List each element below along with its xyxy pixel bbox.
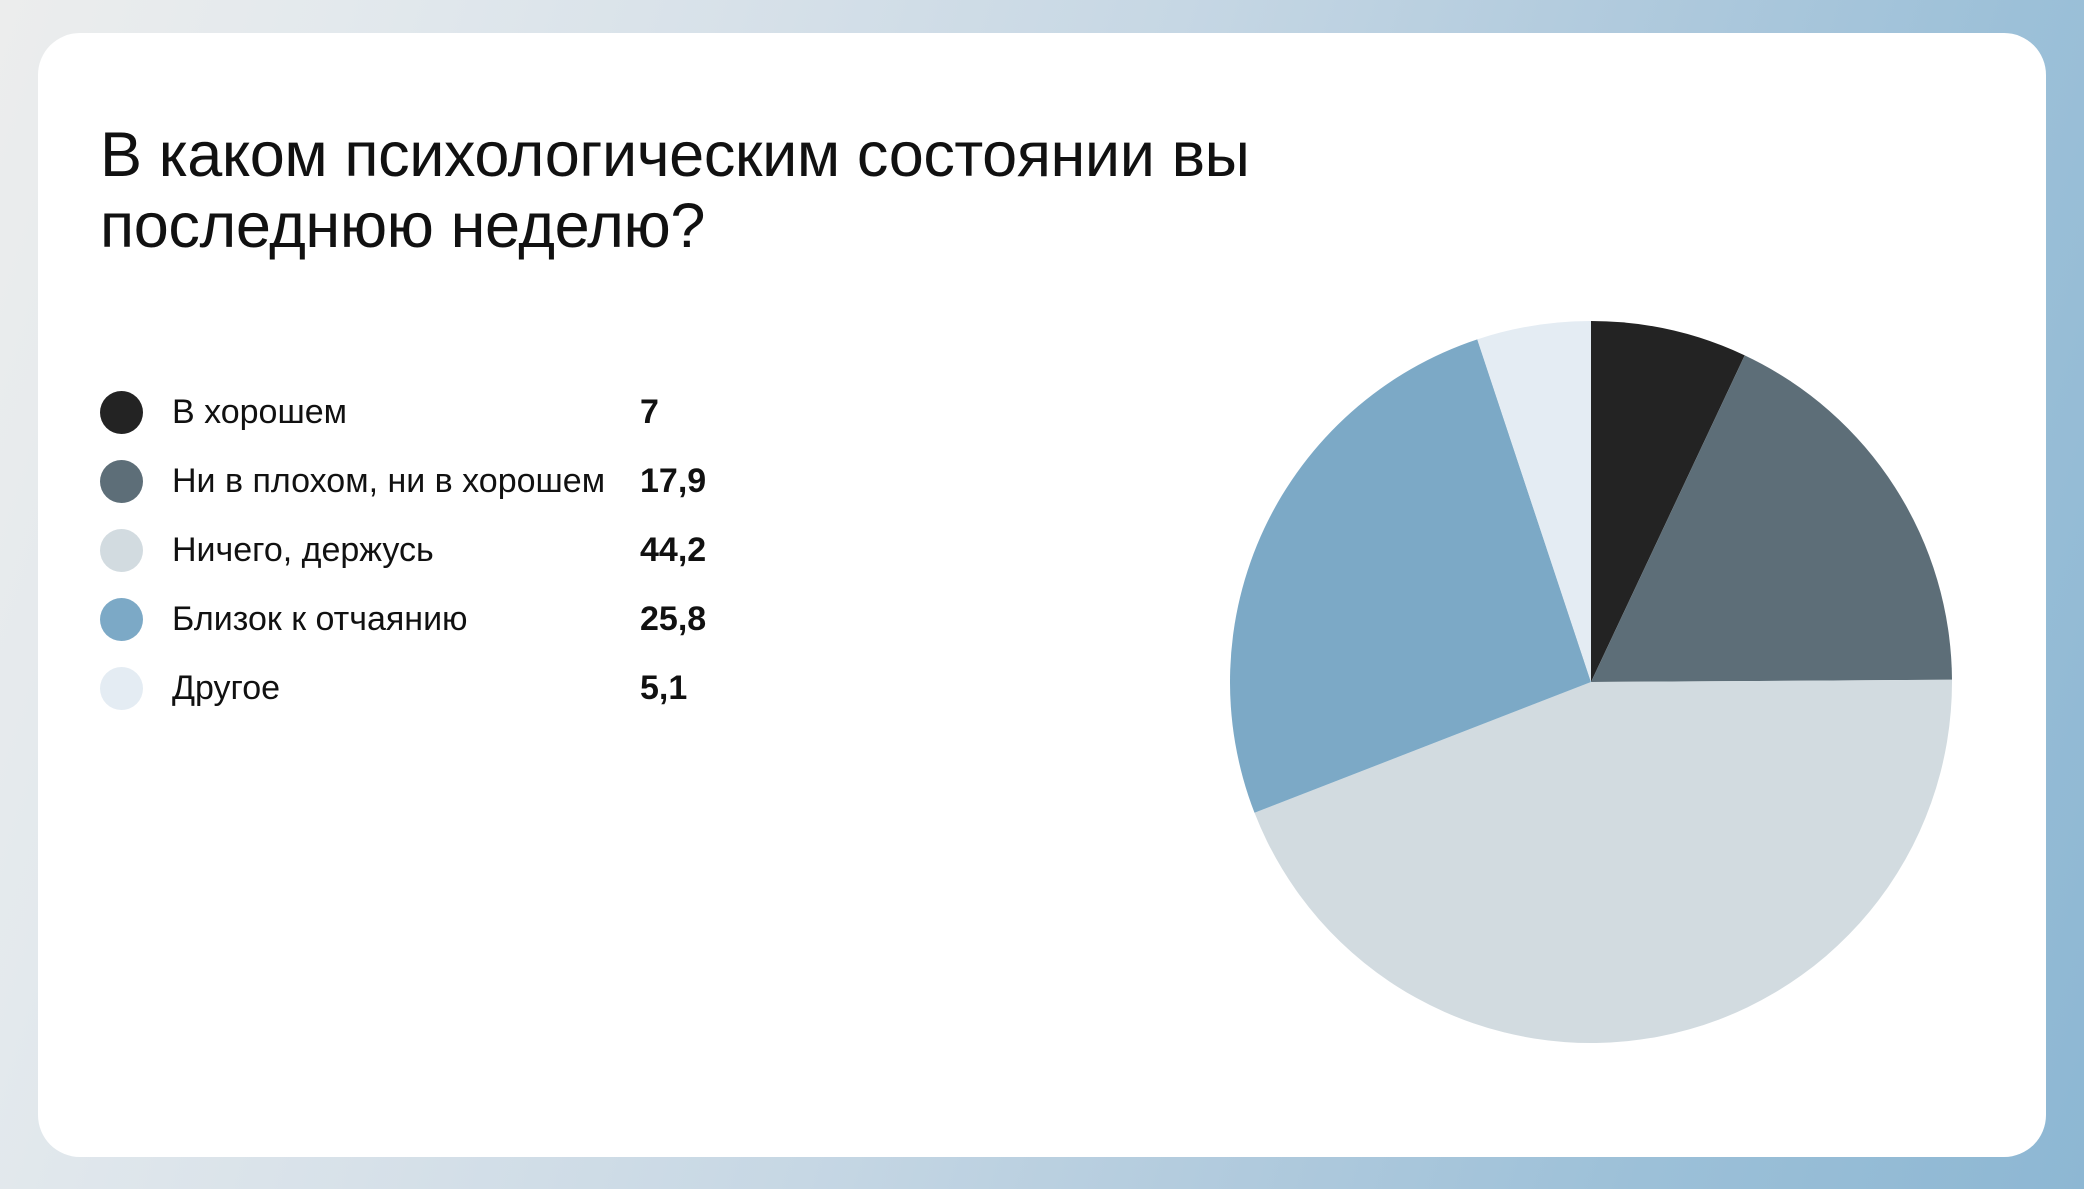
legend-item-value: 44,2 <box>640 531 706 570</box>
legend-item-value: 5,1 <box>640 669 687 708</box>
legend-item[interactable]: Другое 5,1 <box>100 654 950 723</box>
legend-item[interactable]: В хорошем 7 <box>100 378 950 447</box>
legend-color-swatch-icon <box>100 667 143 710</box>
legend-item-value: 25,8 <box>640 600 706 639</box>
pie-chart-svg <box>1230 321 1952 1043</box>
slide-canvas: В каком психологическим состоянии вы пос… <box>0 0 2084 1189</box>
legend-item[interactable]: Близок к отчаянию 25,8 <box>100 585 950 654</box>
legend-color-swatch-icon <box>100 391 143 434</box>
legend-color-swatch-icon <box>100 529 143 572</box>
legend-color-swatch-icon <box>100 598 143 641</box>
page-title: В каком психологическим состоянии вы пос… <box>100 120 1560 262</box>
pie-chart <box>1230 321 1952 1043</box>
legend-item-value: 17,9 <box>640 462 706 501</box>
legend-color-swatch-icon <box>100 460 143 503</box>
legend-item-value: 7 <box>640 393 659 432</box>
legend-item-label: В хорошем <box>172 393 347 432</box>
legend-item-label: Ничего, держусь <box>172 531 434 570</box>
legend-item-label: Близок к отчаянию <box>172 600 468 639</box>
slide-card: В каком психологическим состоянии вы пос… <box>38 33 2046 1157</box>
legend-item[interactable]: Ничего, держусь 44,2 <box>100 516 950 585</box>
legend-item[interactable]: Ни в плохом, ни в хорошем 17,9 <box>100 447 950 516</box>
chart-legend: В хорошем 7 Ни в плохом, ни в хорошем 17… <box>100 378 950 723</box>
legend-item-label: Ни в плохом, ни в хорошем <box>172 462 605 501</box>
legend-item-label: Другое <box>172 669 280 708</box>
